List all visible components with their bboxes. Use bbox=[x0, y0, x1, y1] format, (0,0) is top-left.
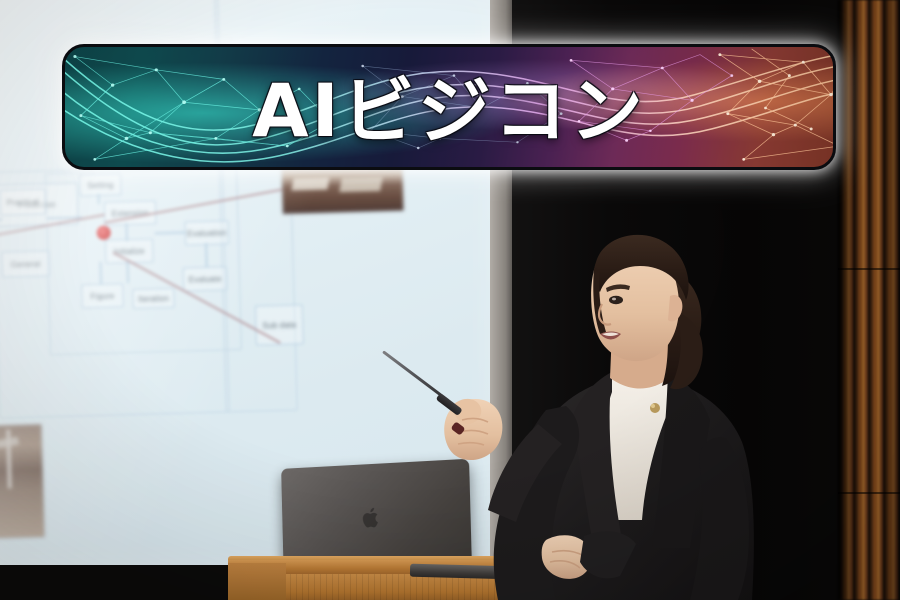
eye bbox=[609, 296, 623, 304]
lapel-pin-highlight bbox=[651, 404, 655, 408]
lapel-pin-icon bbox=[650, 403, 660, 413]
eye-highlight bbox=[612, 298, 616, 301]
banner-surface: AIビジコン bbox=[62, 44, 836, 170]
presentation-photo: Prediction Practical General Setting Ext… bbox=[0, 0, 900, 600]
title-banner: AIビジコン bbox=[62, 44, 836, 170]
banner-title: AIビジコン bbox=[65, 47, 833, 167]
